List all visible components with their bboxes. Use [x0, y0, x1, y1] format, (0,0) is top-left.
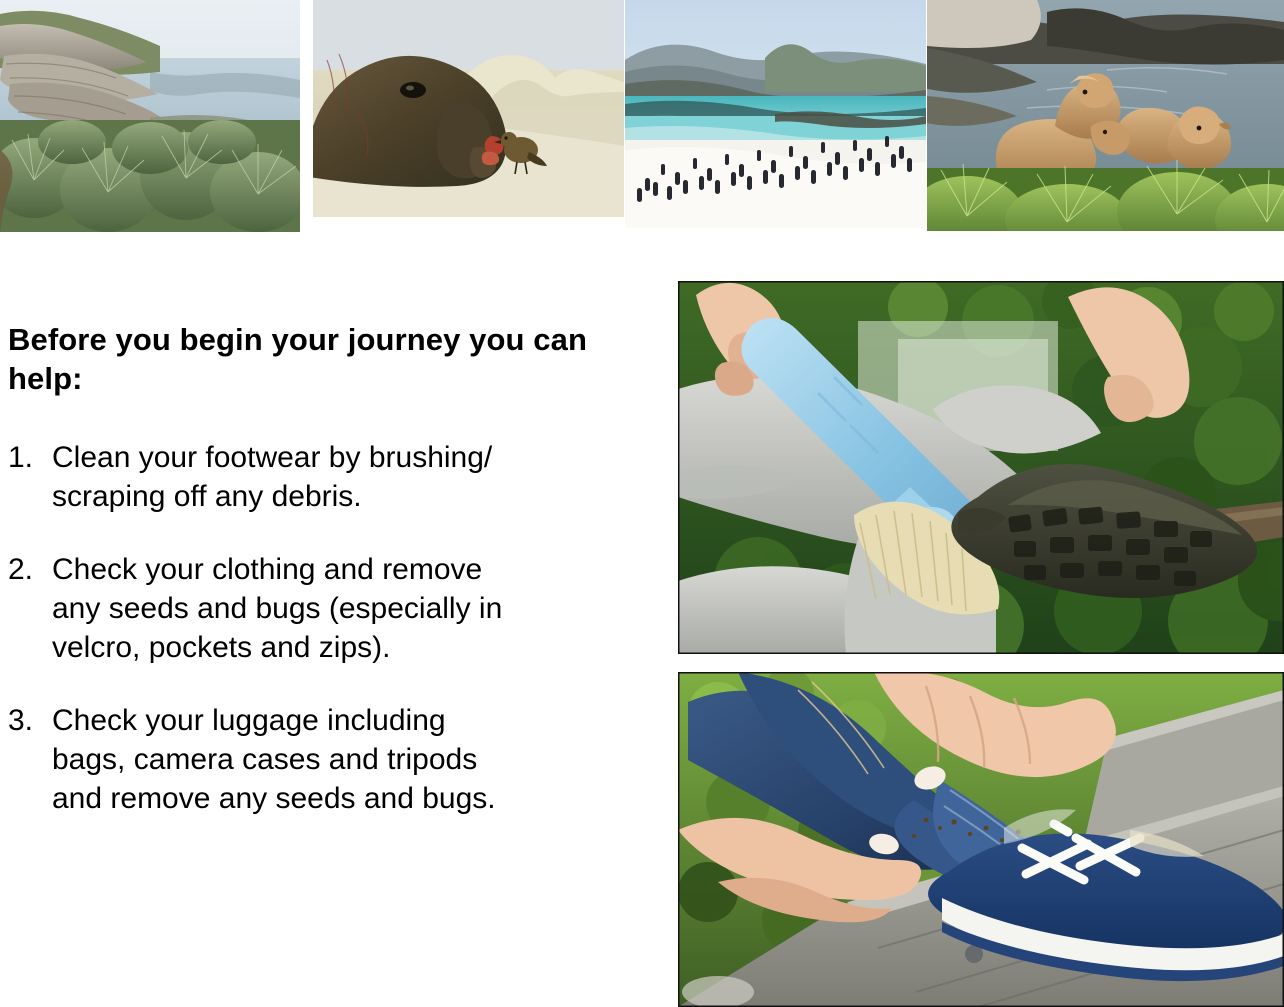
- list-item: 2. Check your clothing and remove any se…: [8, 550, 650, 667]
- coastal-cliff-tussock-grass-photo: [0, 0, 300, 232]
- photo-strip: [0, 0, 1284, 240]
- checking-jeans-illustration: [678, 672, 1284, 1007]
- coastal-cliff-illustration: [0, 0, 300, 232]
- penguin-colony-illustration: [625, 0, 926, 228]
- step-number: 3.: [8, 701, 52, 740]
- step-number: 2.: [8, 550, 52, 589]
- sea-lions-on-rocks-photo: [927, 0, 1284, 231]
- step-number: 1.: [8, 438, 52, 477]
- sea-lions-illustration: [927, 0, 1284, 231]
- list-item: 3. Check your luggage including bags, ca…: [8, 701, 650, 818]
- elephant-seal-and-bird-photo: [313, 0, 624, 217]
- page-title: Before you begin your journey you can he…: [8, 320, 633, 398]
- step-text: Clean your footwear by brushing/ scrapin…: [52, 438, 612, 516]
- elephant-seal-illustration: [313, 0, 624, 217]
- list-item: 1. Clean your footwear by brushing/ scra…: [8, 438, 650, 516]
- penguin-colony-beach-photo: [625, 0, 926, 228]
- checking-jeans-turnup-photo: [678, 672, 1284, 1007]
- step-text: Check your luggage including bags, camer…: [52, 701, 612, 818]
- instructions-column: Before you begin your journey you can he…: [0, 320, 650, 940]
- brushing-boot-sole-photo: [678, 281, 1284, 654]
- step-text: Check your clothing and remove any seeds…: [52, 550, 612, 667]
- brushing-boot-illustration: [678, 281, 1284, 654]
- steps-list: 1. Clean your footwear by brushing/ scra…: [8, 438, 650, 818]
